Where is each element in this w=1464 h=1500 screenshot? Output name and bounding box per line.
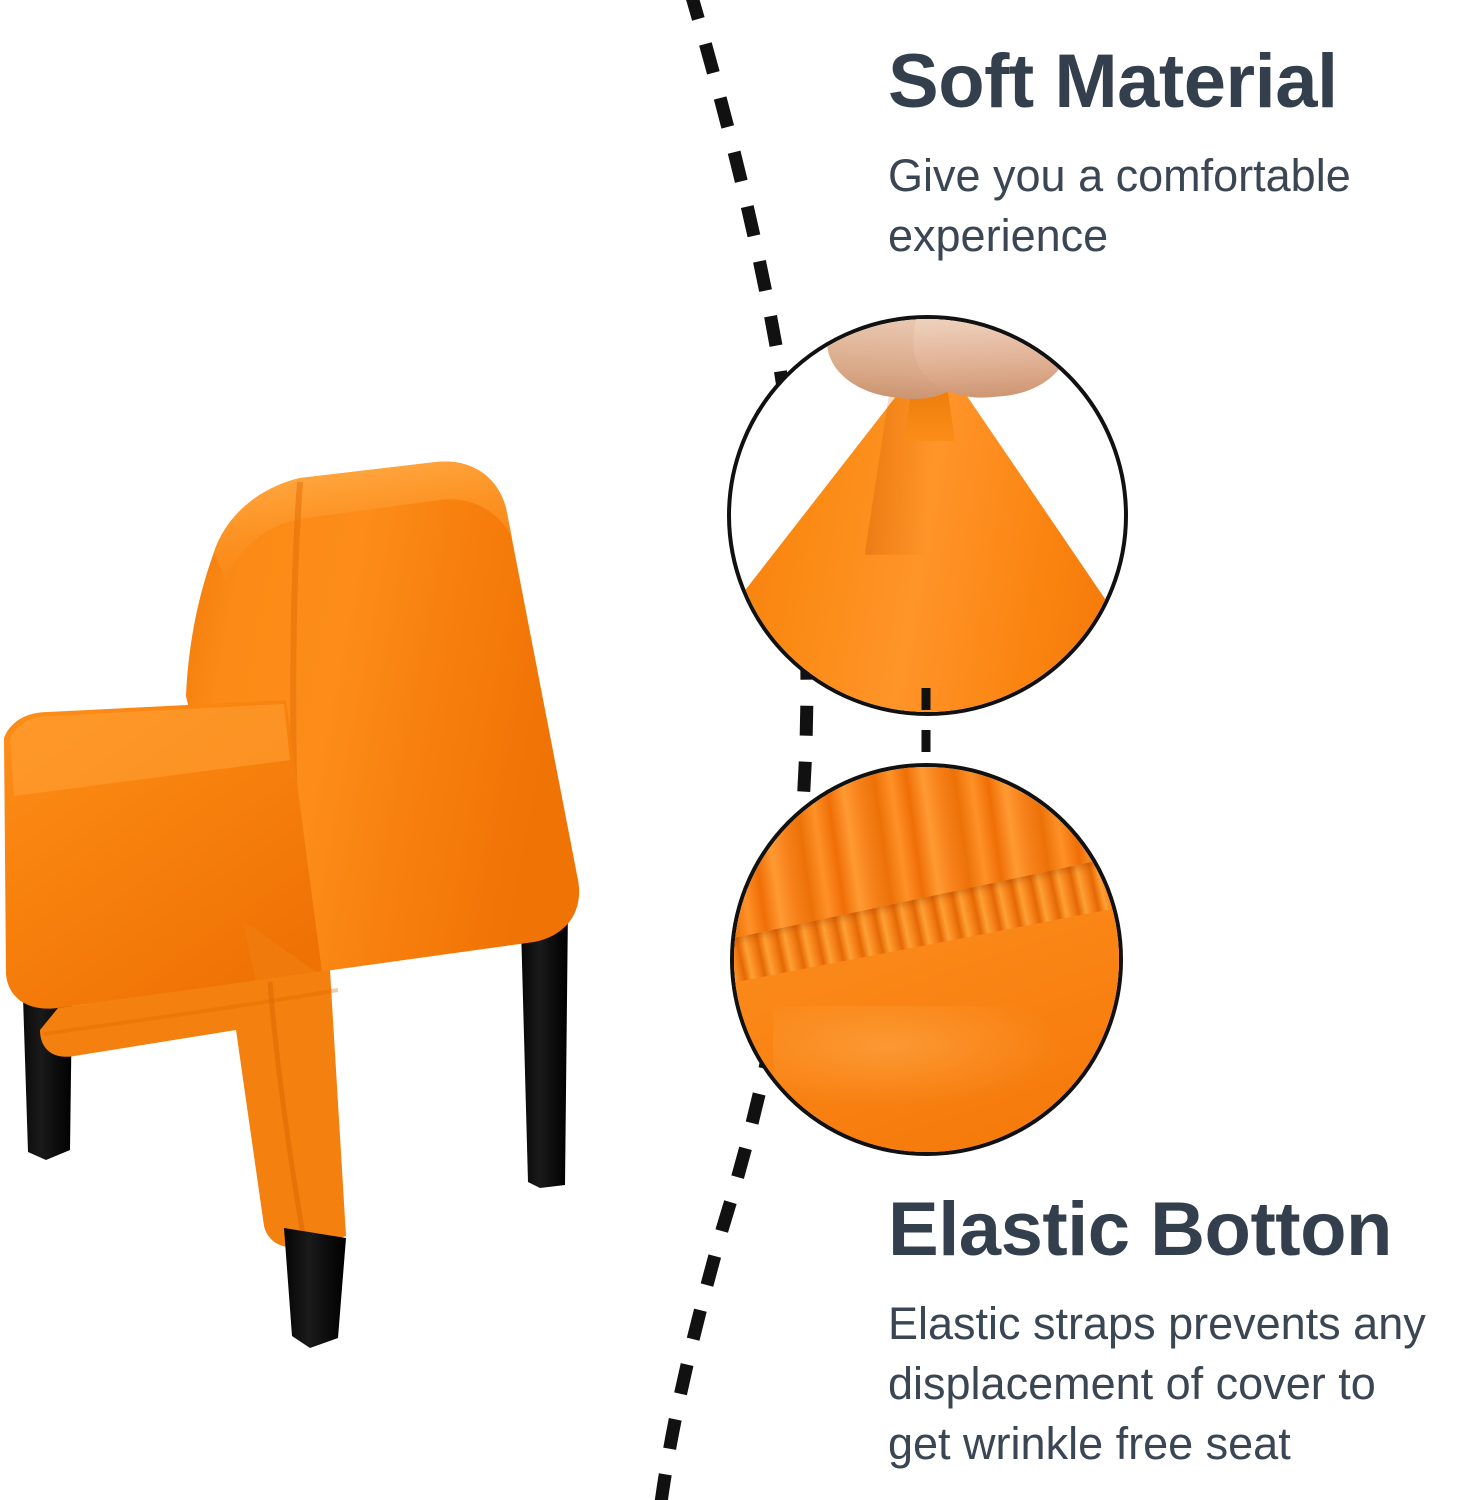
fabric-sheen: [773, 1006, 1062, 1106]
feature-description-soft-material: Give you a comfortable experience: [888, 146, 1408, 266]
dining-chair-icon: [0, 230, 820, 1390]
dashed-connector: [921, 688, 931, 758]
callout-elastic-botton: [730, 763, 1123, 1156]
feature-soft-material: Soft Material Give you a comfortable exp…: [888, 44, 1408, 266]
feature-title-elastic-botton: Elastic Botton: [888, 1192, 1448, 1268]
feature-description-elastic-botton: Elastic straps prevents any displacement…: [888, 1294, 1448, 1474]
feature-elastic-botton: Elastic Botton Elastic straps prevents a…: [888, 1192, 1448, 1474]
feature-title-soft-material: Soft Material: [888, 44, 1408, 120]
chair-leg-front-center: [284, 1228, 346, 1348]
callout-soft-material: [727, 315, 1128, 716]
elastic-hem-icon: [734, 767, 1119, 1152]
chair-slipcover-image: [0, 230, 820, 1390]
pinched-fabric-icon: [731, 319, 1124, 712]
product-infographic: Soft Material Give you a comfortable exp…: [0, 0, 1464, 1500]
